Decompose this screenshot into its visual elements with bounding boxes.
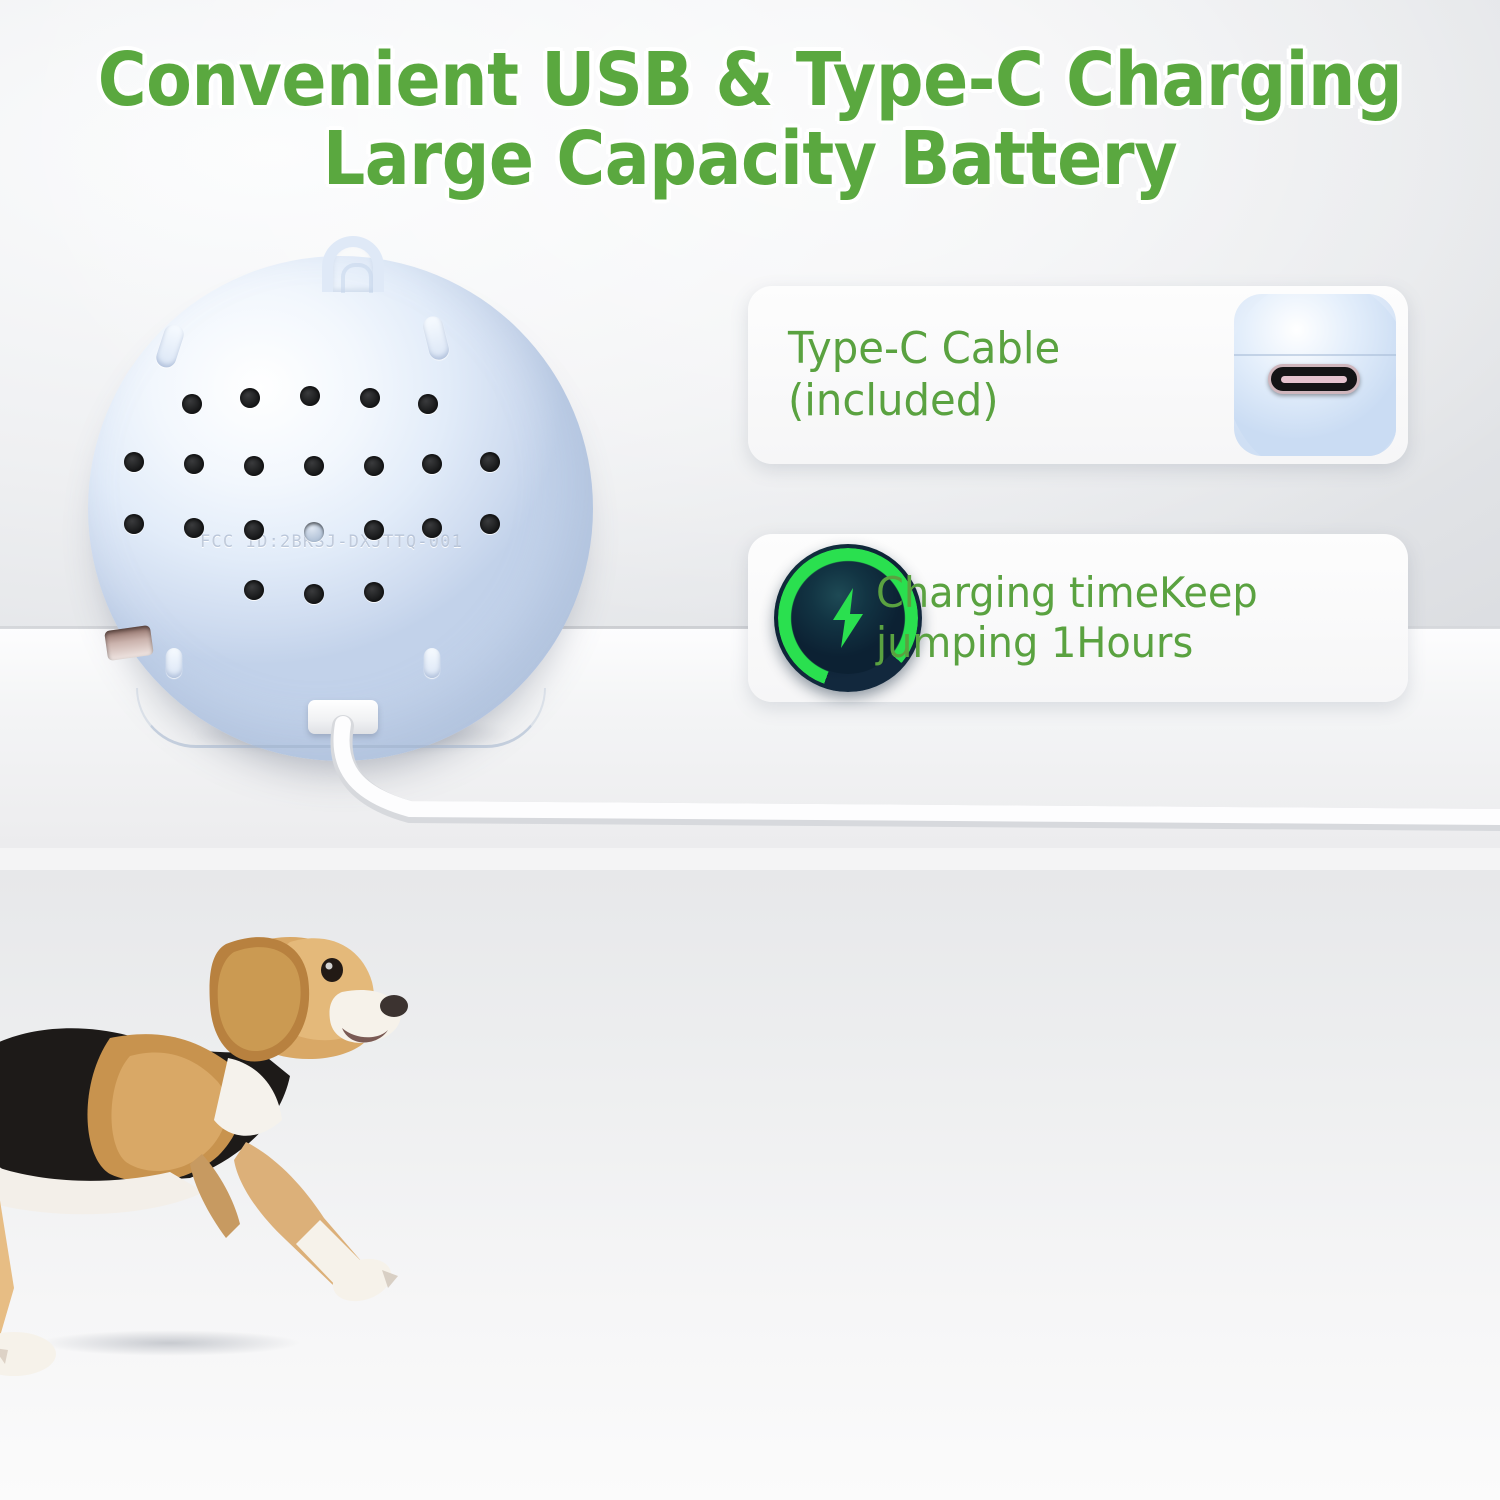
ball-hole <box>480 514 500 534</box>
ball-hole <box>364 520 384 540</box>
usb-cable-plug <box>308 700 378 734</box>
ball-vent-slot-bottom-left <box>166 648 182 678</box>
beagle-dog-photo <box>0 888 460 1388</box>
ball-hole <box>300 386 320 406</box>
bottom-panel: Yiateoii -JBC 503040PL 3.7V +600mAh 2.22… <box>0 870 1500 1500</box>
type-c-port-thumbnail <box>1234 294 1396 456</box>
usb-port-slot <box>104 625 154 661</box>
page-title: Convenient USB & Type-C Charging Large C… <box>75 44 1425 195</box>
title-line-1: Convenient USB & Type-C Charging <box>98 37 1403 123</box>
infographic-page: Convenient USB & Type-C Charging Large C… <box>0 0 1500 1500</box>
ball-hole <box>184 518 204 538</box>
ball-hole <box>418 394 438 414</box>
title-line-2: Large Capacity Battery <box>75 123 1425 196</box>
ball-hole <box>244 580 264 600</box>
ball-vent-slot-bottom-right <box>424 648 440 678</box>
ball-hole <box>364 582 384 602</box>
lightning-bolt-glyph <box>825 586 871 650</box>
ball-body: FCC ID:2BKSJ-DXJTTQ-001 <box>88 256 593 761</box>
card-charging-label: Charging timeKeep jumping 1Hours <box>876 568 1258 667</box>
ball-hole <box>244 520 264 540</box>
ball-hole <box>360 388 380 408</box>
panel-divider <box>0 848 1500 870</box>
card-type-c-cable[interactable]: Type-C Cable (included) <box>748 286 1408 464</box>
ball-hole <box>244 456 264 476</box>
usb-type-c-port-icon <box>1268 364 1360 394</box>
ball-hole <box>422 518 442 538</box>
top-panel: Convenient USB & Type-C Charging Large C… <box>0 0 1500 848</box>
ball-hole <box>422 454 442 474</box>
ball-hole <box>124 514 144 534</box>
hanging-loop <box>322 236 384 292</box>
seam-line <box>1234 354 1396 356</box>
ball-hole <box>480 452 500 472</box>
card-type-c-label: Type-C Cable (included) <box>788 323 1060 427</box>
ball-hole <box>182 394 202 414</box>
ball-hole <box>124 452 144 472</box>
ball-hole <box>304 522 324 542</box>
ball-hole <box>304 456 324 476</box>
card-charging-time[interactable]: Charging timeKeep jumping 1Hours <box>748 534 1408 702</box>
ball-hole <box>184 454 204 474</box>
ball-hole <box>304 584 324 604</box>
white-ball-product: FCC ID:2BKSJ-DXJTTQ-001 <box>88 236 608 766</box>
ball-vent-slot-left <box>154 322 187 370</box>
ball-hole <box>364 456 384 476</box>
ball-hole <box>240 388 260 408</box>
ball-vent-slot-right <box>421 314 451 362</box>
